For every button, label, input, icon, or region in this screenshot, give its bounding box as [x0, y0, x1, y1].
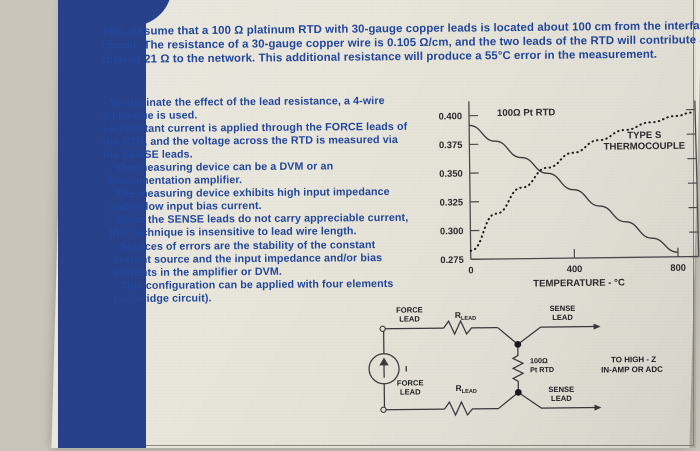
terminal-bottom: [381, 407, 386, 412]
wire-sense-top: [518, 327, 596, 345]
label-rtd-line2: Pt RTD: [530, 365, 554, 374]
circuit-svg: FORCE LEAD FORCE LEAD RLEAD RLEAD SENSE …: [357, 298, 700, 427]
example-paragraph: - Ex. Assume that a 100 Ω platinum RTD w…: [102, 20, 700, 68]
ticklabel-x: 0: [468, 264, 473, 275]
list-item: - To eliminate the effect of the lead re…: [102, 95, 410, 124]
ticklabel-left: 0.400: [438, 110, 462, 121]
resistor-rlead-top: [444, 321, 498, 335]
label-sense-lead-bottom-line2: LEAD: [551, 394, 572, 403]
ticklabel-left: 0.325: [440, 196, 464, 207]
current-arrow-head: [380, 359, 387, 365]
left-axis-ticklabels: 0.2750.3000.3250.3500.3750.400: [438, 110, 463, 265]
ticklabel-x: 400: [567, 263, 583, 274]
chart-svg: 0.2750.3000.3250.3500.3750.400 5.506.507…: [419, 88, 700, 302]
list-item: - The measuring device can be a DVM or a…: [103, 160, 411, 189]
label-current-source: I: [405, 365, 407, 374]
resistor-rlead-bottom: [444, 402, 498, 416]
list-item: - Since the SENSE leads do not carry app…: [103, 212, 411, 241]
label-sense-lead-top-line2: LEAD: [552, 313, 573, 322]
label-force-lead-top-line1: FORCE: [396, 305, 423, 314]
label-sense-lead-top-line1: SENSE: [550, 304, 576, 313]
wire-force-bottom-left: [384, 409, 444, 410]
bullet-list: - To eliminate the effect of the lead re…: [102, 95, 412, 306]
label-force-lead-top-line2: LEAD: [399, 314, 420, 323]
chart-axes: [469, 99, 699, 260]
x-axis-label: TEMPERATURE - °C: [533, 277, 625, 289]
ticklabel-left: 0.300: [440, 225, 464, 236]
right-axis-spine: [695, 101, 699, 257]
x-axis-ticklabels: 0400800: [468, 262, 686, 276]
rtd-resistor-symbol: [513, 344, 524, 392]
list-item: - The measuring device exhibits high inp…: [103, 186, 411, 215]
label-force-lead-bottom-line2: LEAD: [400, 387, 421, 396]
arrowhead-sense-bottom: [594, 404, 601, 410]
list-item: - A constant current is applied through …: [102, 121, 410, 163]
right-axis-ticks: [686, 110, 699, 257]
lecture-slide: Temperature Sensors - Ex. Assume that a …: [51, 0, 700, 448]
rtd-vs-thermocouple-chart: 0.2750.3000.3250.3500.3750.400 5.506.507…: [419, 88, 700, 302]
label-rtd-line1: 100Ω: [530, 356, 548, 365]
label-destination-line2: IN-AMP OR ADC: [601, 365, 663, 375]
arrowhead-sense-top: [594, 323, 601, 329]
label-rlead-top: RLEAD: [455, 310, 476, 322]
label-destination-line1: TO HIGH - Z: [611, 355, 656, 364]
label-sense-lead-bottom-line1: SENSE: [548, 385, 574, 394]
ticklabel-x: 800: [670, 262, 686, 273]
terminal-top: [380, 326, 385, 331]
wire-force-bottom-node: [498, 392, 518, 408]
label-rlead-bottom: RLEAD: [456, 383, 477, 395]
screenshot-root: Temperature Sensors - Ex. Assume that a …: [0, 0, 700, 451]
ticklabel-left: 0.350: [439, 168, 463, 179]
annotation-thermocouple-line1: TYPE STHERMOCOUPLE: [603, 130, 685, 153]
four-wire-rtd-circuit: FORCE LEAD FORCE LEAD RLEAD RLEAD SENSE …: [357, 298, 700, 427]
wire-force-top-node: [498, 327, 518, 344]
annotation-rtd: 100Ω Pt RTD: [497, 107, 556, 119]
label-force-lead-bottom-line1: FORCE: [397, 378, 424, 387]
bottom-axis-spine: [471, 257, 699, 260]
ticklabel-left: 0.275: [440, 254, 464, 265]
ticklabel-left: 0.375: [439, 139, 463, 150]
list-item: - Sources of errors are the stability of…: [103, 238, 411, 280]
wire-force-top-left: [384, 328, 444, 329]
